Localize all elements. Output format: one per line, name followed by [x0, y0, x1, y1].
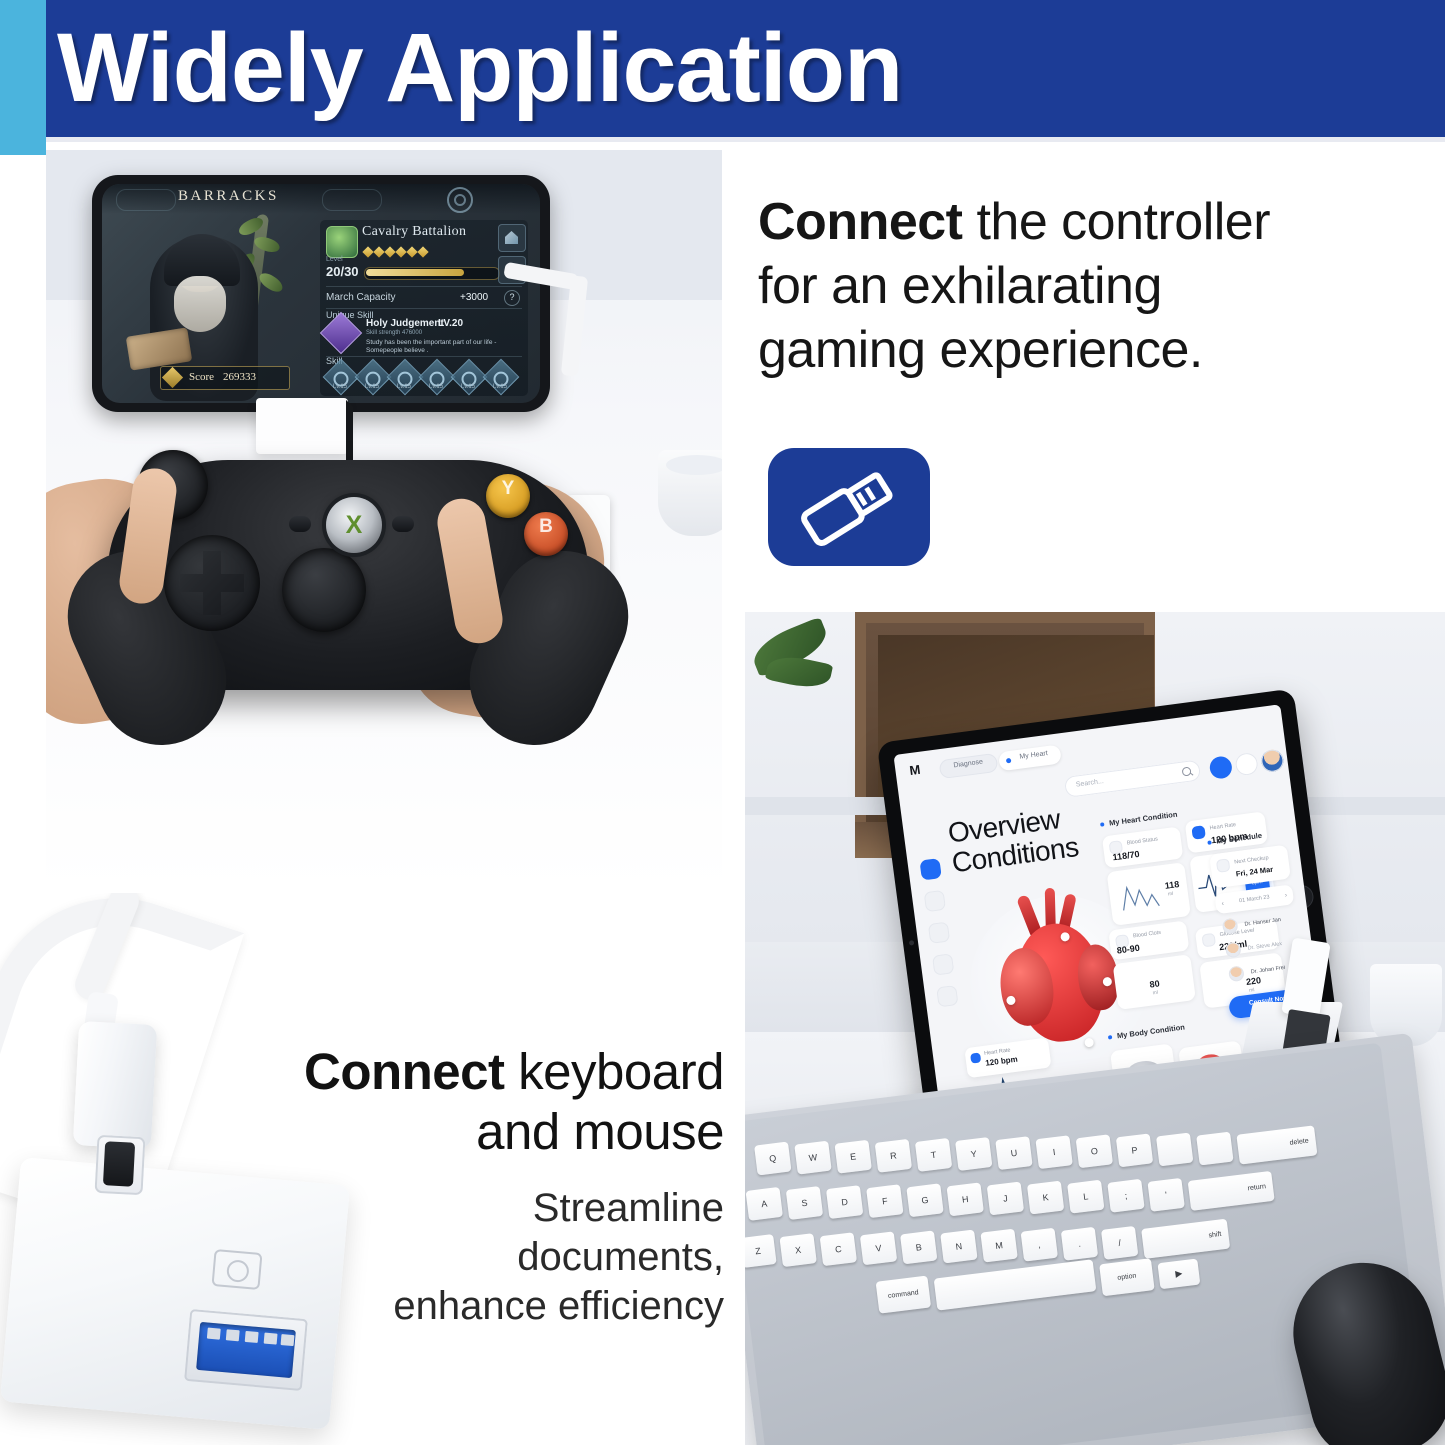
- button-b-label: B: [524, 516, 568, 538]
- key-o[interactable]: O: [1076, 1134, 1113, 1168]
- calendar-icon: [1216, 858, 1231, 873]
- key-m[interactable]: M: [980, 1229, 1017, 1263]
- tab-diagnose-label: Diagnose: [939, 757, 997, 772]
- copy-keyboard-mouse: Connect keyboard and mouse Streamline do…: [168, 1042, 724, 1331]
- copy-rest: keyboard: [505, 1043, 724, 1100]
- metric-unit: ml: [1249, 987, 1255, 994]
- key-b[interactable]: B: [900, 1230, 937, 1264]
- metric-big-value: 118: [1164, 879, 1180, 891]
- skill-chip-level: Lv.15: [327, 384, 353, 390]
- skill-chip-level: Lv.15: [455, 384, 481, 390]
- key-bracket-left[interactable]: [1156, 1132, 1193, 1166]
- metric-value: 118/70: [1112, 849, 1140, 862]
- copy-kb-sub2: documents,: [168, 1233, 724, 1282]
- phone-screen: BARRACKS Scor: [102, 184, 540, 403]
- sidebar-item-reports[interactable]: [928, 922, 950, 944]
- key-q[interactable]: Q: [754, 1142, 791, 1176]
- usb-c-connector: [73, 1021, 157, 1149]
- metric-big-value: 220: [1245, 975, 1261, 987]
- search-placeholder: Search...: [1075, 778, 1104, 789]
- back-button[interactable]: [289, 516, 311, 532]
- key-v[interactable]: V: [860, 1231, 897, 1265]
- key-t[interactable]: T: [915, 1138, 952, 1172]
- usb-flash-drive-icon: [796, 464, 902, 550]
- key-g[interactable]: G: [906, 1183, 943, 1217]
- key-i[interactable]: I: [1035, 1135, 1072, 1169]
- key-slash[interactable]: /: [1101, 1226, 1138, 1260]
- dpad[interactable]: [164, 535, 260, 631]
- key-k[interactable]: K: [1027, 1181, 1064, 1215]
- metric-big-value: 80: [1149, 978, 1160, 989]
- heart-icon: [1191, 825, 1206, 840]
- key-e[interactable]: E: [834, 1140, 871, 1174]
- key-a[interactable]: A: [746, 1187, 783, 1221]
- home-icon: [505, 231, 518, 244]
- score-badge: Score 269333: [160, 366, 290, 390]
- metric-value: 80-90: [1116, 943, 1140, 956]
- key-f[interactable]: F: [866, 1184, 903, 1218]
- product-infographic: Widely Application BARRACKS: [0, 0, 1445, 1445]
- sidebar-item-activity[interactable]: [924, 890, 946, 912]
- cup-prop: [658, 450, 722, 536]
- smartphone: BARRACKS Scor: [92, 175, 550, 412]
- skill-chip-level: Lv.15: [423, 384, 449, 390]
- score-value: 269333: [223, 371, 256, 383]
- header-underline: [46, 137, 1445, 142]
- upgrade-home-button[interactable]: [498, 224, 526, 252]
- divider: [326, 356, 522, 357]
- key-h[interactable]: H: [947, 1182, 984, 1216]
- start-button[interactable]: [392, 516, 414, 532]
- copy-kb-line2: and mouse: [168, 1102, 724, 1162]
- hero-leaf: [257, 270, 286, 295]
- copy-controller-line3: gaming experience.: [758, 318, 1418, 382]
- glucose-icon: [1201, 933, 1216, 948]
- section-heart-title: My Heart Condition: [1109, 810, 1178, 828]
- march-capacity-label: March Capacity: [326, 292, 395, 303]
- metric-label: Blood Status: [1127, 836, 1159, 846]
- metric-unit: ml: [1152, 990, 1158, 997]
- skill-chip-level: Lv.15: [359, 384, 385, 390]
- key-j[interactable]: J: [987, 1181, 1024, 1215]
- metric-detail-blood-clots: 80 ml: [1113, 954, 1196, 1010]
- usb-c-tip: [95, 1135, 146, 1195]
- key-quote[interactable]: ': [1147, 1178, 1184, 1212]
- copy-rest: the controller: [963, 193, 1271, 251]
- march-capacity-value: +3000: [460, 292, 488, 303]
- game-ornament-right: [322, 189, 382, 211]
- key-r[interactable]: R: [875, 1139, 912, 1173]
- key-comma[interactable]: ,: [1021, 1228, 1058, 1262]
- copy-controller-line1: Connect the controller: [758, 190, 1418, 254]
- metric-chart-blood-status: 118 ml: [1107, 862, 1191, 926]
- panel-controller-photo: BARRACKS Scor: [46, 150, 722, 893]
- tab-diagnose[interactable]: Diagnose: [938, 753, 998, 779]
- key-z[interactable]: Z: [745, 1234, 777, 1268]
- skill-chip-level: Lv.15: [391, 384, 417, 390]
- usb-pin: [226, 1329, 240, 1341]
- copy-kb-line1: Connect keyboard: [168, 1042, 724, 1102]
- level-value: 20/30: [326, 264, 359, 279]
- unit-star-rating: [364, 243, 430, 261]
- header-accent-bar: [0, 0, 46, 155]
- skill-description: Study has been the important part of our…: [366, 339, 516, 355]
- usb-pin: [281, 1334, 295, 1346]
- analog-stick-right[interactable]: [282, 548, 366, 632]
- sidebar-item-settings[interactable]: [932, 953, 954, 975]
- search-icon[interactable]: [1182, 767, 1192, 777]
- key-bracket-right[interactable]: [1196, 1132, 1233, 1166]
- key-command[interactable]: command: [876, 1276, 932, 1314]
- bullet-icon: [1100, 822, 1104, 826]
- avatar[interactable]: [1260, 748, 1285, 773]
- call-button[interactable]: [1209, 755, 1234, 780]
- usb-pin: [264, 1333, 278, 1345]
- guide-button[interactable]: X: [326, 497, 382, 553]
- metric-label: Heart Rate: [1209, 822, 1236, 831]
- next-checkup-card[interactable]: Next Checkup Fri, 24 Mar: [1209, 845, 1291, 889]
- key-p[interactable]: P: [1116, 1133, 1153, 1167]
- key-x[interactable]: X: [779, 1233, 816, 1267]
- page-title: Widely Application: [57, 8, 1057, 128]
- next-checkup-label: Next Checkup: [1234, 855, 1269, 865]
- search-input[interactable]: Search...: [1064, 759, 1202, 798]
- key-w[interactable]: W: [794, 1141, 831, 1175]
- heart-rate-value: 120 bpm: [985, 1055, 1018, 1068]
- game-settings-icon[interactable]: [447, 187, 473, 213]
- copy-kb-sub3: enhance efficiency: [168, 1282, 724, 1331]
- copy-kb-sub1: Streamline: [168, 1184, 724, 1233]
- key-return[interactable]: return: [1188, 1171, 1275, 1211]
- button-b[interactable]: B: [524, 512, 568, 556]
- divider: [326, 308, 522, 309]
- notification-button[interactable]: [1234, 752, 1259, 777]
- key-s[interactable]: S: [786, 1186, 823, 1220]
- metric-card-blood-status[interactable]: Blood Status 118/70: [1102, 826, 1184, 868]
- unit-name: Cavalry Battalion: [362, 224, 466, 240]
- skill-strength: Skill strength 476000: [366, 330, 422, 336]
- xbox-logo-icon: X: [342, 512, 366, 538]
- dashboard-logo: M: [909, 762, 922, 778]
- level-label: Level: [326, 256, 343, 263]
- key-period[interactable]: .: [1061, 1227, 1098, 1261]
- tab-my-heart[interactable]: My Heart: [998, 744, 1062, 771]
- game-screen-title: BARRACKS: [178, 188, 279, 205]
- help-icon[interactable]: ?: [504, 290, 520, 306]
- game-info-panel: Cavalry Battalion Level 20/30 March Capa…: [320, 220, 528, 396]
- key-option[interactable]: option: [1099, 1258, 1155, 1296]
- panel-tablet-photo: M Diagnose My Heart Search...: [745, 612, 1445, 1445]
- key-c[interactable]: C: [820, 1232, 857, 1266]
- usb-c-slot: [103, 1141, 135, 1187]
- button-y[interactable]: Y: [486, 474, 530, 518]
- skill-name: Holy Judgement: [366, 318, 444, 329]
- usb-pin: [245, 1331, 259, 1343]
- month-selector-value: 01 March 23: [1215, 891, 1293, 907]
- key-u[interactable]: U: [995, 1136, 1032, 1170]
- skill-level: LV.20: [438, 318, 463, 329]
- copy-controller: Connect the controller for an exhilarati…: [758, 190, 1418, 382]
- metric-label: Blood Clots: [1133, 930, 1162, 940]
- hero-beard: [174, 276, 226, 332]
- key-space[interactable]: [934, 1259, 1097, 1310]
- copy-controller-line2: for an exhilarating: [758, 254, 1418, 318]
- sidebar-item-apps[interactable]: [936, 985, 958, 1007]
- key-n[interactable]: N: [940, 1230, 977, 1264]
- key-delete[interactable]: delete: [1236, 1125, 1317, 1164]
- divider: [326, 286, 522, 287]
- unit-icon: [326, 226, 358, 258]
- phone-stand: [256, 398, 348, 454]
- metric-unit: ml: [1168, 891, 1174, 898]
- experience-bar: [364, 267, 500, 280]
- front-camera-icon: [909, 940, 915, 946]
- blood-status-sparkline: [1116, 875, 1164, 914]
- heart-icon: [970, 1052, 981, 1063]
- sidebar-item-home[interactable]: [919, 858, 941, 880]
- score-label: Score: [189, 371, 214, 383]
- key-semicolon[interactable]: ;: [1107, 1179, 1144, 1213]
- experience-fill: [366, 269, 464, 276]
- score-diamond-icon: [162, 367, 183, 388]
- key-y[interactable]: Y: [955, 1137, 992, 1171]
- usb-badge: [768, 448, 930, 566]
- key-l[interactable]: L: [1067, 1180, 1104, 1214]
- skill-chip-level: Lv.15: [487, 384, 513, 390]
- next-checkup-value: Fri, 24 Mar: [1235, 865, 1273, 879]
- key-d[interactable]: D: [826, 1185, 863, 1219]
- copy-bold-connect: Connect: [758, 193, 963, 251]
- key-shift[interactable]: shift: [1141, 1219, 1230, 1259]
- button-y-label: Y: [486, 478, 530, 500]
- tab-my-heart-label: My Heart: [1006, 748, 1060, 762]
- key-arrow-right[interactable]: ▶: [1157, 1259, 1200, 1290]
- copy-bold-connect: Connect: [304, 1043, 505, 1100]
